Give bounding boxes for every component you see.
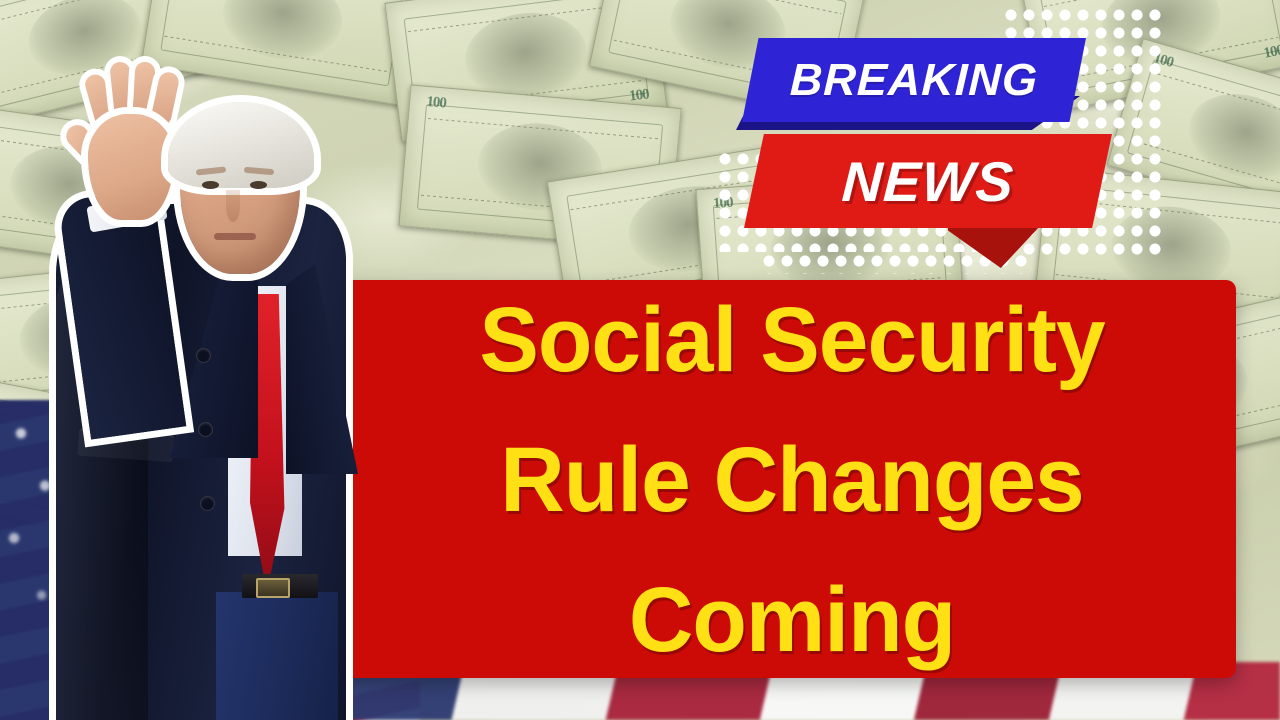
headline-banner: Social Security Rule Changes Coming <box>280 280 1236 678</box>
eye-left <box>202 181 219 189</box>
coat-button <box>198 422 213 437</box>
waving-hand <box>88 114 174 220</box>
finger <box>109 61 135 117</box>
hair <box>168 102 314 188</box>
news-badge: NEWS <box>744 134 1112 228</box>
news-label: NEWS <box>840 149 1015 214</box>
coat-button <box>196 348 211 363</box>
belt <box>242 574 318 598</box>
bill-denomination: 100 <box>1262 43 1280 63</box>
headline-line-3: Coming <box>385 574 1200 668</box>
bill-denomination: 100 <box>426 94 447 113</box>
headline-line-2: Rule Changes <box>385 434 1200 528</box>
thumbnail-canvas: 100 100 100 100 100 100 100 100 1 <box>0 0 1280 720</box>
eye-right <box>250 181 267 189</box>
headline-line-1: Social Security <box>385 294 1200 388</box>
breaking-badge: BREAKING <box>742 38 1086 122</box>
mouth <box>214 233 256 240</box>
coat-button <box>200 496 215 511</box>
breaking-label: BREAKING <box>789 54 1039 106</box>
nose <box>226 190 240 222</box>
trousers <box>216 592 338 720</box>
person-cutout <box>18 18 388 720</box>
